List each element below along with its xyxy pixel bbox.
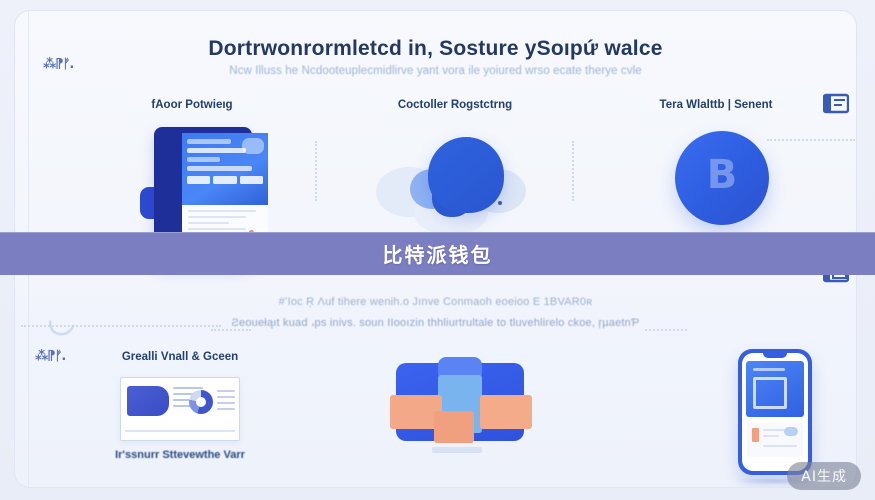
- circle-glyph-label: B: [675, 155, 769, 195]
- screen-line: [188, 210, 256, 212]
- phone-tag: [752, 428, 759, 442]
- blob-shape: [428, 137, 504, 213]
- screen-bar: [187, 139, 231, 144]
- dashboard-card-illustration: [120, 377, 240, 441]
- banner-title: 比特派钱包: [383, 239, 493, 268]
- blob-dot: [498, 201, 502, 205]
- card-line: [217, 402, 235, 404]
- abstract-orange-shape: [480, 395, 532, 429]
- screen-chip-row: [187, 176, 263, 184]
- dotted-divider: [211, 329, 251, 331]
- screenshot-root: Dortrwonrormletcd in, Sosture ySoıpứ wal…: [0, 0, 875, 500]
- ai-generated-badge: AI生成: [787, 462, 861, 490]
- screen-line: [188, 222, 229, 224]
- card-line: [173, 387, 203, 389]
- page-title: Dortrwonrormletcd in, Sosture ySoıpứ wal…: [15, 37, 856, 61]
- screen-line: [188, 228, 246, 230]
- feature-title: fAoor Potwieıg: [57, 99, 327, 111]
- card-line: [217, 408, 235, 410]
- phone-hero-banner: [746, 361, 804, 417]
- card-baseline: [125, 430, 235, 432]
- phone-bubble: [784, 427, 798, 436]
- screen-line: [188, 216, 246, 218]
- phone-notch: [763, 353, 787, 358]
- circle-shape: B: [675, 131, 769, 225]
- screen-header-area: [182, 133, 268, 205]
- screen-chip: [187, 176, 210, 184]
- phone-body: [738, 349, 812, 475]
- feature-caption: Ir'ssnurr Sttevewthe Varr: [55, 449, 305, 461]
- feature-block-phone: [675, 341, 857, 481]
- abstract-device-illustration: [380, 351, 540, 451]
- phone-list-card: [747, 423, 803, 457]
- page-subtitle: Ncw Illuss he Ncdooteuplecmidlirve yant …: [15, 65, 856, 77]
- decorative-glyph-icon: ⁂⁋ᚠ.: [43, 57, 73, 72]
- abstract-orange-shape: [434, 411, 474, 443]
- screen-chip: [240, 176, 263, 184]
- dotted-divider: [645, 329, 687, 331]
- overlay-banner: 比特派钱包: [0, 232, 875, 275]
- screen-bar: [187, 166, 252, 171]
- card-line: [217, 396, 235, 398]
- card-line-group: [217, 390, 235, 414]
- mid-text-line-1: #ʻIoc Ŗ Ʌuf tihere wenih.o Jınve Conmaoh…: [15, 296, 856, 308]
- feature-title: Grealli Vnall & Gceen: [55, 351, 305, 363]
- feature-title: Tera Wlalttb | Senent: [591, 99, 841, 111]
- phone-line: [763, 445, 797, 447]
- blue-circle-illustration: B: [641, 129, 791, 249]
- screen-blob: [242, 138, 264, 154]
- feature-title: Coctoller Rogstctrng: [335, 99, 575, 111]
- screen-bar: [187, 148, 246, 153]
- phone-line: [763, 429, 785, 431]
- abstract-foot-shape: [432, 447, 482, 453]
- card-line: [217, 390, 235, 392]
- screen-chip: [213, 176, 236, 184]
- mid-text-line-2: Ƨeouełąıt kuad ،ps inivs. soun IIooızin …: [15, 316, 856, 329]
- screen-bar: [187, 157, 220, 162]
- phone-screen: [742, 353, 808, 471]
- cloud-blob-illustration: [370, 129, 540, 249]
- feature-block-abstract: [345, 341, 575, 451]
- phone-hero-bar: [753, 368, 785, 371]
- phone-hero-box: [753, 377, 787, 409]
- pie-chart-icon: [189, 390, 213, 414]
- feature-block-dashboard: Grealli Vnall & Gceen Ir'ssnu: [55, 351, 305, 461]
- phone-line: [763, 435, 779, 437]
- card-block-shape: [127, 386, 169, 416]
